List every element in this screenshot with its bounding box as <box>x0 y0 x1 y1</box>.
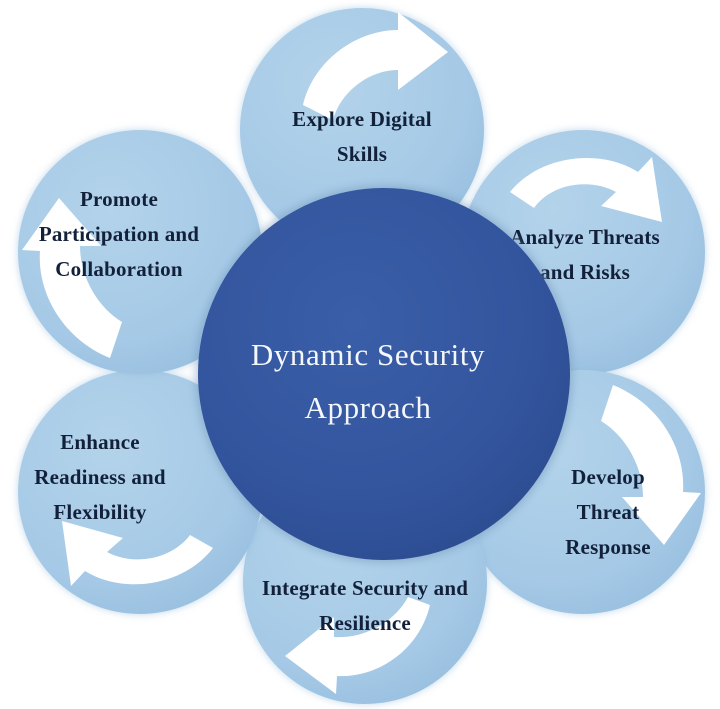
petal-label-line-3: Collaboration <box>55 257 183 281</box>
petal-label-line-2: Skills <box>337 142 387 166</box>
center-label-line-1: Dynamic Security <box>251 337 485 372</box>
petal-label-line-3: Flexibility <box>53 500 146 524</box>
petal-label-line-1: Analyze Threats <box>510 225 660 249</box>
center-label-line-2: Approach <box>304 390 431 425</box>
petal-label-line-1: Integrate Security and <box>262 576 468 600</box>
petal-label-line-2: Threat <box>577 500 640 524</box>
center-hub[interactable]: Dynamic Security Approach <box>195 185 573 563</box>
petal-label-line-1: Promote <box>80 187 158 211</box>
petal-label-line-1: Explore Digital <box>292 107 432 131</box>
petal-label-line-2: Readiness and <box>34 465 166 489</box>
petal-label-line-2: Participation and <box>39 222 199 246</box>
petal-label-line-1: Enhance <box>60 430 140 454</box>
diagram-canvas: Explore Digital Skills Analyze Threats a… <box>0 0 720 709</box>
dynamic-security-approach-diagram: Explore Digital Skills Analyze Threats a… <box>0 0 720 709</box>
petal-label-line-3: Response <box>565 535 651 559</box>
petal-label-line-2: and Risks <box>540 260 630 284</box>
center-circle <box>198 188 570 560</box>
petal-label-line-1: Develop <box>571 465 645 489</box>
petal-label-line-2: Resilience <box>319 611 411 635</box>
